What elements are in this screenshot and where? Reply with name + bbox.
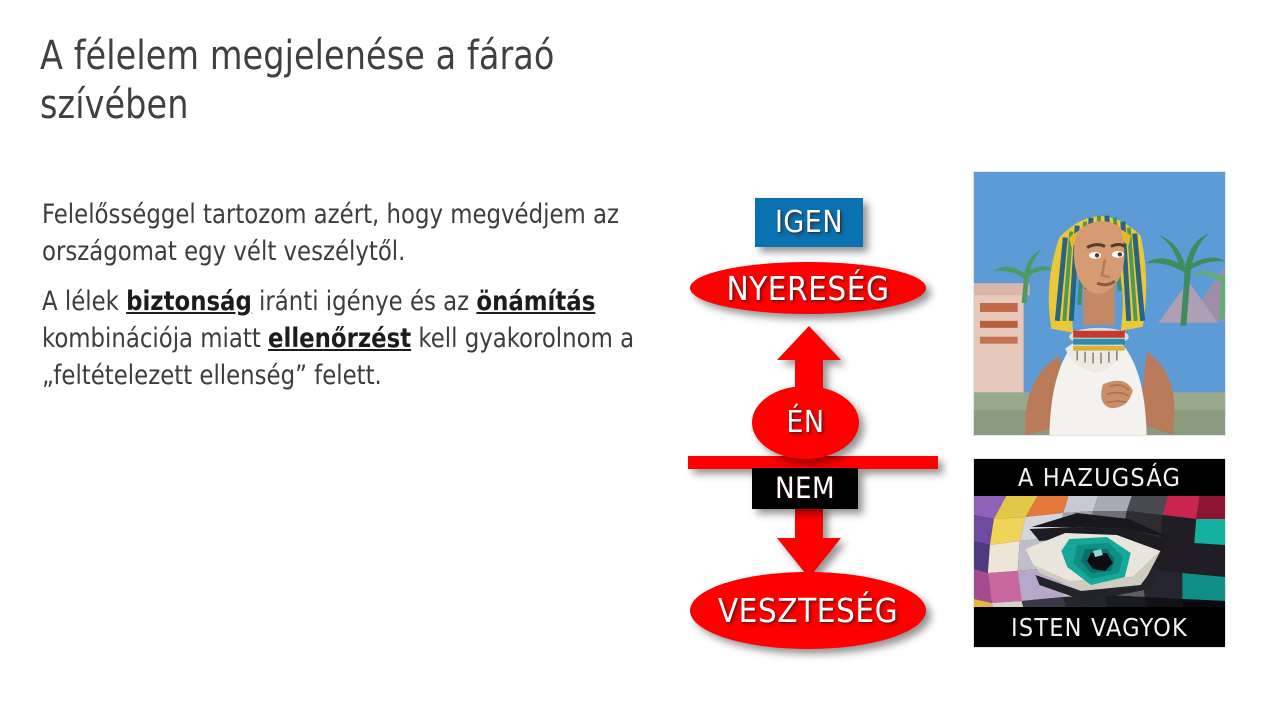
p2-emphasis-onamitas: önámítás xyxy=(476,286,595,317)
p2-text-1: A lélek xyxy=(42,286,126,317)
nem-label: NEM xyxy=(775,474,835,503)
nyereseg-ellipse: NYERESÉG xyxy=(690,262,926,314)
p2-emphasis-biztonsag: biztonság xyxy=(126,286,252,317)
meme-top-bar: A HAZUGSÁG xyxy=(974,459,1225,496)
igen-box: IGEN xyxy=(755,198,863,247)
arrow-down-icon xyxy=(771,504,847,578)
slide-canvas: A félelem megjelenése a fáraó szívében F… xyxy=(0,0,1280,720)
pharaoh-illustration xyxy=(973,171,1226,436)
body-paragraph-2: A lélek biztonság iránti igénye és az ön… xyxy=(42,284,672,394)
p2-text-3: kombinációja miatt xyxy=(42,323,268,354)
nyereseg-label: NYERESÉG xyxy=(726,272,889,305)
arrow-up-icon xyxy=(771,326,847,390)
meme-top-caption: A HAZUGSÁG xyxy=(1018,463,1181,492)
nem-box: NEM xyxy=(752,468,858,509)
body-text-block: Felelősséggel tartozom azért, hogy megvé… xyxy=(42,197,672,409)
page-title: A félelem megjelenése a fáraó szívében xyxy=(40,32,654,130)
en-ellipse: ÉN xyxy=(752,386,859,459)
meme-bottom-bar: ISTEN VAGYOK xyxy=(974,607,1225,647)
meme-bottom-caption: ISTEN VAGYOK xyxy=(1011,613,1188,642)
low-poly-eye-artwork xyxy=(974,493,1225,615)
body-paragraph-1: Felelősséggel tartozom azért, hogy megvé… xyxy=(42,197,672,270)
pharaoh-artwork xyxy=(974,172,1225,435)
veszteseg-label: VESZTESÉG xyxy=(718,594,898,627)
igen-label: IGEN xyxy=(775,208,843,238)
decision-diagram: IGEN NYERESÉG ÉN NEM VESZTESÉG xyxy=(670,160,950,670)
p2-emphasis-ellenorzest: ellenőrzést xyxy=(268,323,411,354)
p2-text-2: iránti igénye és az xyxy=(252,286,477,317)
veszteseg-ellipse: VESZTESÉG xyxy=(690,572,926,649)
en-label: ÉN xyxy=(786,408,824,438)
lie-meme-image: A HAZUGSÁG ISTEN VAGYOK xyxy=(973,458,1226,648)
